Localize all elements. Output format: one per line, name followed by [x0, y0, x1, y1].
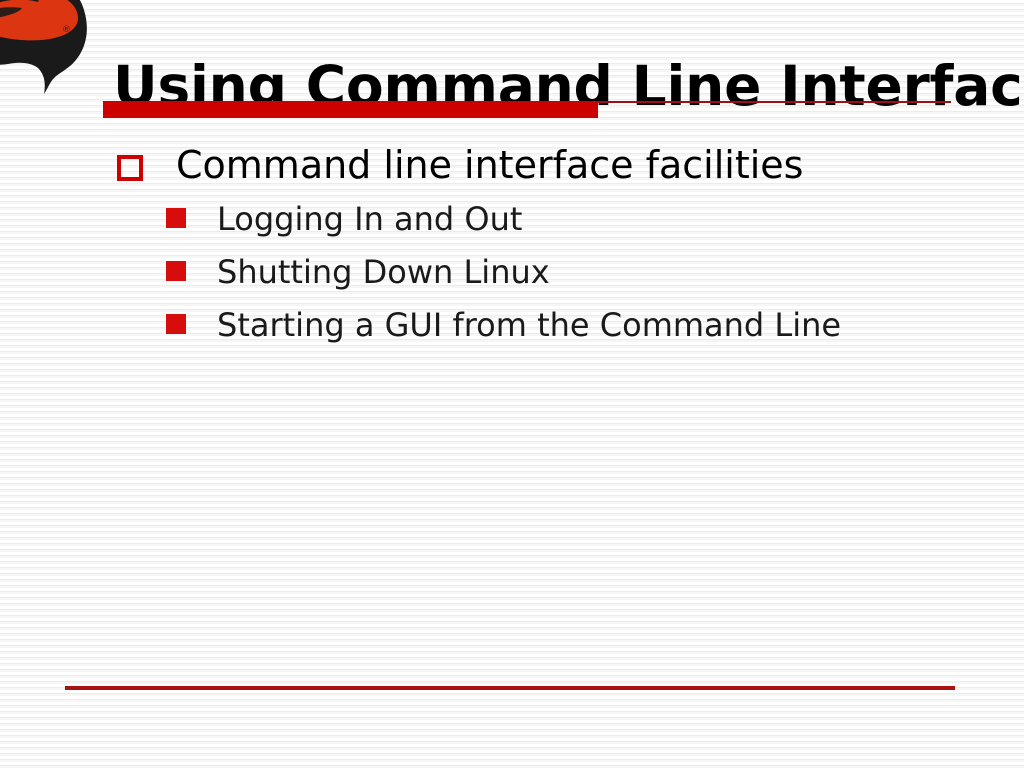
- bullet-level2-label: Logging In and Out: [217, 194, 522, 244]
- bullet-level2-label: Starting a GUI from the Command Line: [217, 300, 841, 350]
- bullet-level2: Logging In and Out: [0, 194, 1024, 244]
- bullet-level1-label: Command line interface facilities: [176, 140, 803, 190]
- presentation-slide: ® Using Command Line Interface Command l…: [0, 0, 1024, 768]
- footer-rule: [65, 686, 955, 690]
- title-divider-line: [598, 101, 951, 103]
- slide-body: Command line interface facilities Loggin…: [0, 140, 1024, 353]
- solid-square-bullet-icon: [166, 314, 186, 334]
- bullet-sublist: Logging In and Out Shutting Down Linux S…: [0, 194, 1024, 350]
- red-hat-shadowman-logo: ®: [0, 0, 108, 95]
- solid-square-bullet-icon: [166, 208, 186, 228]
- bullet-level2: Starting a GUI from the Command Line: [0, 300, 1024, 350]
- registered-trademark-symbol: ®: [62, 26, 71, 35]
- title-divider: [0, 98, 1024, 120]
- solid-square-bullet-icon: [166, 261, 186, 281]
- hollow-square-bullet-icon: [117, 155, 143, 181]
- title-divider-bar: [103, 101, 598, 118]
- bullet-level1: Command line interface facilities: [0, 140, 1024, 190]
- bullet-level2: Shutting Down Linux: [0, 247, 1024, 297]
- bullet-level2-label: Shutting Down Linux: [217, 247, 550, 297]
